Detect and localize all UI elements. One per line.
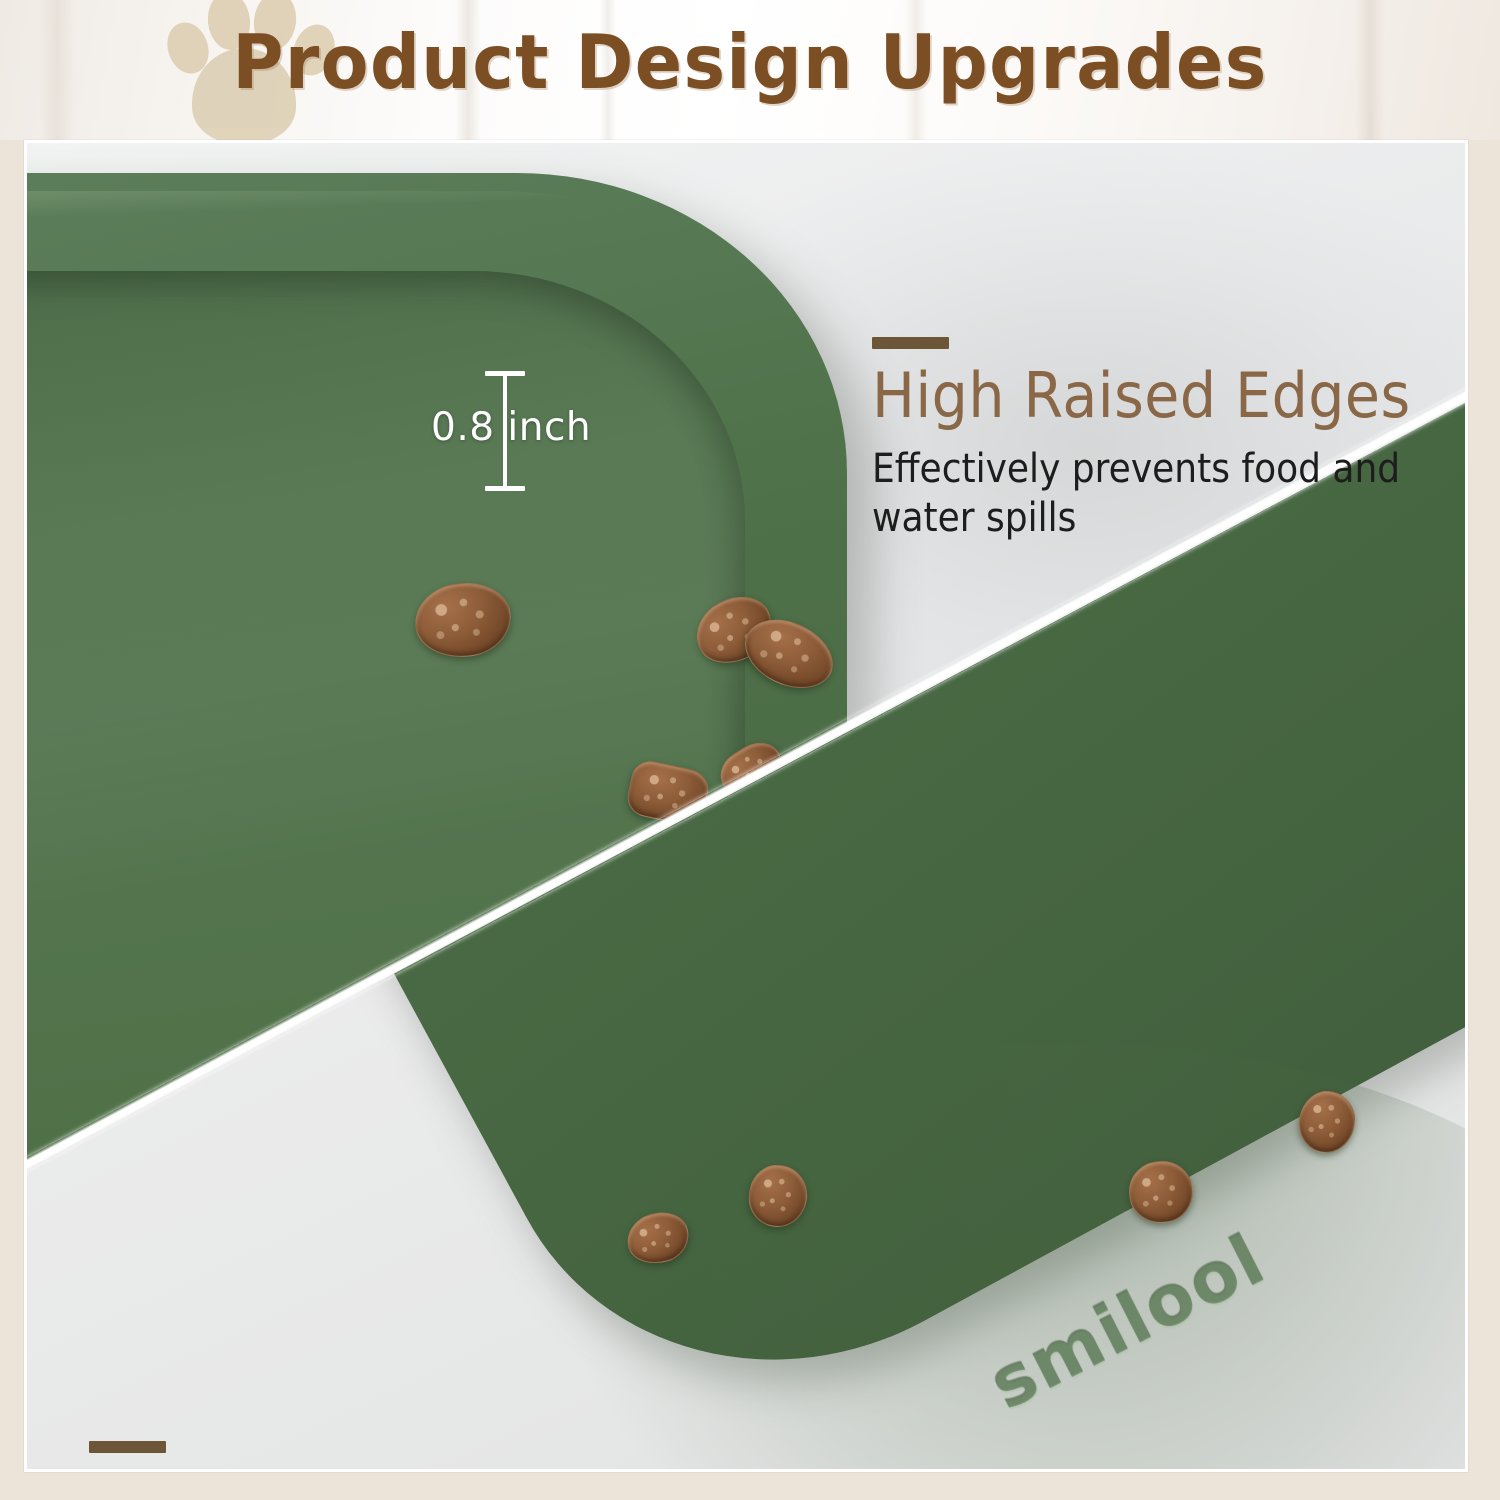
callout-accent-bar (872, 337, 949, 349)
dimension-annotation: 0.8 inch (459, 371, 619, 491)
product-photo: smilool 0.8 inch High Raised Edges Effec… (27, 143, 1465, 1469)
page-title: Product Design Upgrades (53, 18, 1448, 106)
callout-keeping-floor-clean: Keeping the floor clean Minimizes time s… (89, 1441, 1289, 1469)
product-photo-frame: smilool 0.8 inch High Raised Edges Effec… (24, 140, 1468, 1472)
callout-accent-bar (89, 1441, 166, 1453)
callout-body: Effectively prevents food and water spil… (872, 445, 1448, 543)
callout-high-raised-edges: High Raised Edges Effectively prevents f… (872, 337, 1465, 542)
dimension-label: 0.8 inch (431, 405, 591, 450)
callout-heading: Keeping the floor clean (89, 1467, 1193, 1469)
dimension-cap-bottom (485, 486, 525, 491)
callout-heading: High Raised Edges (872, 363, 1461, 429)
page-header: Product Design Upgrades (0, 0, 1500, 140)
